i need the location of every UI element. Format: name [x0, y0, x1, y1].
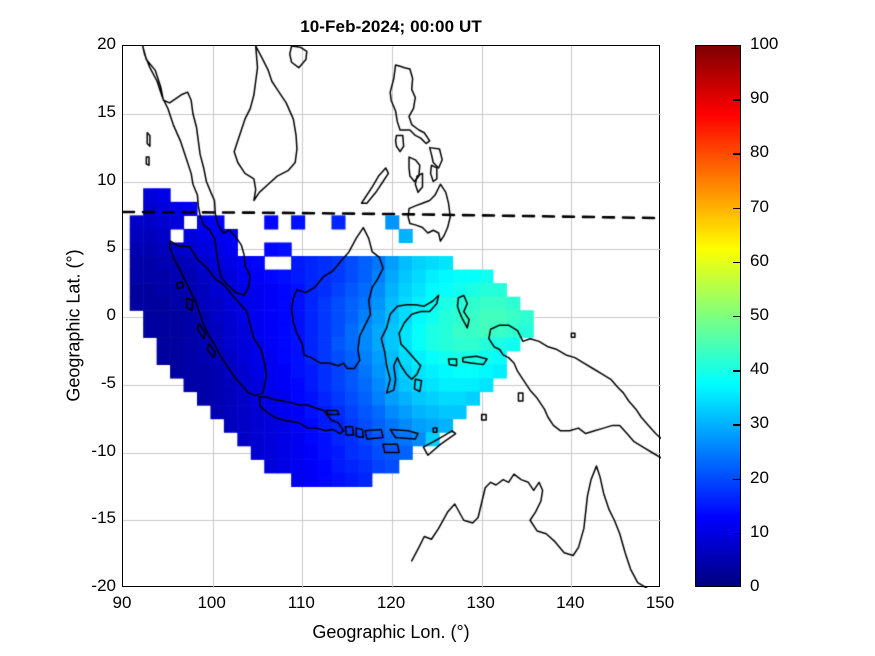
colorbar-tick-40: 40: [750, 359, 769, 379]
colorbar-tick-80: 80: [750, 142, 769, 162]
colorbar-tick-mark: [733, 208, 741, 209]
x-tick-120: 120: [361, 593, 421, 613]
colorbar-tick-50: 50: [750, 305, 769, 325]
x-axis-title: Geographic Lon. (°): [122, 622, 660, 643]
colorbar-tick-mark: [733, 99, 741, 100]
colorbar-tick-90: 90: [750, 88, 769, 108]
colorbar-tick-100: 100: [750, 34, 778, 54]
colorbar-tick-70: 70: [750, 197, 769, 217]
tec-map-figure: 10-Feb-2024; 00:00 UT 20151050-5-10-15-2…: [0, 0, 875, 656]
colorbar-tick-mark: [733, 153, 741, 154]
y-axis-title: Geographic Lat. (°): [64, 126, 85, 526]
page-title: 10-Feb-2024; 00:00 UT: [122, 17, 660, 37]
colorbar-tick-20: 20: [750, 468, 769, 488]
colorbar-tick-mark: [733, 262, 741, 263]
x-tick-130: 130: [451, 593, 511, 613]
colorbar-tick-mark: [733, 424, 741, 425]
y-axis-title-host: Geographic Lat. (°): [24, 40, 48, 592]
colorbar-title-host: Total Electron Content (TECU): [795, 40, 819, 592]
map-plot-area: [122, 45, 660, 587]
colorbar-tick-mark: [733, 370, 741, 371]
colorbar-tick-60: 60: [750, 251, 769, 271]
colorbar-tick-30: 30: [750, 413, 769, 433]
colorbar-tick-10: 10: [750, 522, 769, 542]
colorbar-tick-mark: [733, 316, 741, 317]
y-tick-15: 15: [66, 102, 116, 122]
colorbar-tick-mark: [733, 533, 741, 534]
colorbar-tick-mark: [733, 479, 741, 480]
x-tick-100: 100: [182, 593, 242, 613]
x-tick-150: 150: [630, 593, 690, 613]
x-tick-90: 90: [92, 593, 152, 613]
colorbar-tick-0: 0: [750, 576, 759, 596]
x-tick-110: 110: [271, 593, 331, 613]
y-tick-20: 20: [66, 34, 116, 54]
tec-heatmap-canvas: [123, 46, 661, 588]
x-tick-140: 140: [540, 593, 600, 613]
